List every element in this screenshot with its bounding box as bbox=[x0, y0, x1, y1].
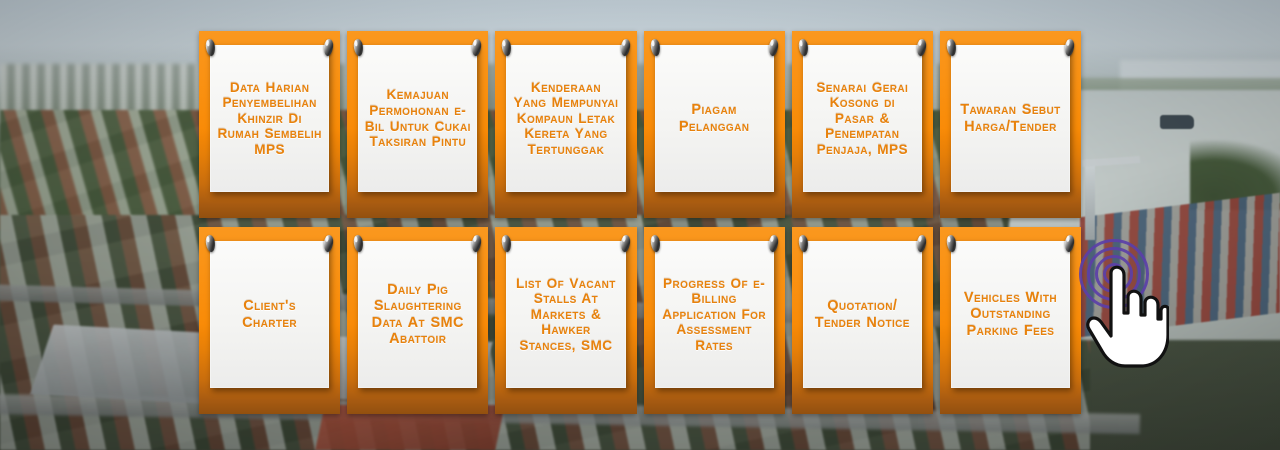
pin-icon bbox=[353, 39, 364, 57]
card-row-2: Client's Charter Daily Pig Slaughtering … bbox=[199, 227, 1081, 414]
card-row-1: Data Harian Penyembelihan Khinzir Di Rum… bbox=[199, 31, 1081, 218]
card-paper: Client's Charter bbox=[210, 241, 329, 388]
card-title: Progress Of e-Billing Application For As… bbox=[661, 276, 768, 354]
pin-icon bbox=[916, 235, 927, 253]
pin-icon bbox=[650, 39, 661, 57]
card-title: Daily Pig Slaughtering Data At SMC Abatt… bbox=[364, 282, 471, 348]
card-title: Tawaran Sebut Harga/Tender bbox=[957, 102, 1064, 135]
card-title: Client's Charter bbox=[216, 298, 323, 331]
pin-icon bbox=[916, 39, 927, 57]
card-paper: Quotation/ Tender Notice bbox=[803, 241, 922, 388]
pin-icon bbox=[501, 39, 512, 57]
service-card[interactable]: List Of Vacant Stalls At Markets & Hawke… bbox=[495, 227, 636, 414]
card-title: Data Harian Penyembelihan Khinzir Di Rum… bbox=[216, 80, 323, 158]
service-card[interactable]: Kenderaan Yang Mempunyai Kompaun Letak K… bbox=[495, 31, 636, 218]
pin-icon bbox=[1064, 235, 1075, 253]
card-paper: Kenderaan Yang Mempunyai Kompaun Letak K… bbox=[506, 45, 625, 192]
pin-icon bbox=[323, 235, 334, 253]
card-title: Kenderaan Yang Mempunyai Kompaun Letak K… bbox=[512, 80, 619, 158]
pin-icon bbox=[620, 39, 631, 57]
service-card[interactable]: Client's Charter bbox=[199, 227, 340, 414]
pin-icon bbox=[471, 39, 482, 57]
card-paper: Daily Pig Slaughtering Data At SMC Abatt… bbox=[358, 241, 477, 388]
card-title: Vehicles With Outstanding Parking Fees bbox=[957, 290, 1064, 340]
service-card[interactable]: Piagam Pelanggan bbox=[644, 31, 785, 218]
pin-icon bbox=[353, 235, 364, 253]
pin-icon bbox=[946, 235, 957, 253]
service-card[interactable]: Vehicles With Outstanding Parking Fees bbox=[940, 227, 1081, 414]
pin-icon bbox=[205, 39, 216, 57]
service-card[interactable]: Quotation/ Tender Notice bbox=[792, 227, 933, 414]
card-paper: Senarai Gerai Kosong di Pasar & Penempat… bbox=[803, 45, 922, 192]
service-card[interactable]: Kemajuan Permohonan e-Bil Untuk Cukai Ta… bbox=[347, 31, 488, 218]
card-title: Quotation/ Tender Notice bbox=[809, 298, 916, 331]
card-paper: Tawaran Sebut Harga/Tender bbox=[951, 45, 1070, 192]
pin-icon bbox=[798, 39, 809, 57]
pin-icon bbox=[798, 235, 809, 253]
card-paper: Kemajuan Permohonan e-Bil Untuk Cukai Ta… bbox=[358, 45, 477, 192]
pin-icon bbox=[768, 39, 779, 57]
pin-icon bbox=[620, 235, 631, 253]
pin-icon bbox=[1064, 39, 1075, 57]
card-paper: List Of Vacant Stalls At Markets & Hawke… bbox=[506, 241, 625, 388]
service-card[interactable]: Progress Of e-Billing Application For As… bbox=[644, 227, 785, 414]
service-card[interactable]: Tawaran Sebut Harga/Tender bbox=[940, 31, 1081, 218]
pin-icon bbox=[946, 39, 957, 57]
service-card-grid: Data Harian Penyembelihan Khinzir Di Rum… bbox=[199, 31, 1081, 418]
card-paper: Vehicles With Outstanding Parking Fees bbox=[951, 241, 1070, 388]
page-root: Data Harian Penyembelihan Khinzir Di Rum… bbox=[0, 0, 1280, 450]
card-title: List Of Vacant Stalls At Markets & Hawke… bbox=[512, 276, 619, 354]
card-title: Piagam Pelanggan bbox=[661, 102, 768, 135]
pin-icon bbox=[501, 235, 512, 253]
pin-icon bbox=[471, 235, 482, 253]
card-paper: Piagam Pelanggan bbox=[655, 45, 774, 192]
pin-icon bbox=[650, 235, 661, 253]
pin-icon bbox=[768, 235, 779, 253]
pin-icon bbox=[323, 39, 334, 57]
card-title: Senarai Gerai Kosong di Pasar & Penempat… bbox=[809, 80, 916, 158]
card-title: Kemajuan Permohonan e-Bil Untuk Cukai Ta… bbox=[364, 87, 471, 149]
service-card[interactable]: Senarai Gerai Kosong di Pasar & Penempat… bbox=[792, 31, 933, 218]
card-paper: Data Harian Penyembelihan Khinzir Di Rum… bbox=[210, 45, 329, 192]
service-card[interactable]: Data Harian Penyembelihan Khinzir Di Rum… bbox=[199, 31, 340, 218]
card-paper: Progress Of e-Billing Application For As… bbox=[655, 241, 774, 388]
pin-icon bbox=[205, 235, 216, 253]
service-card[interactable]: Daily Pig Slaughtering Data At SMC Abatt… bbox=[347, 227, 488, 414]
